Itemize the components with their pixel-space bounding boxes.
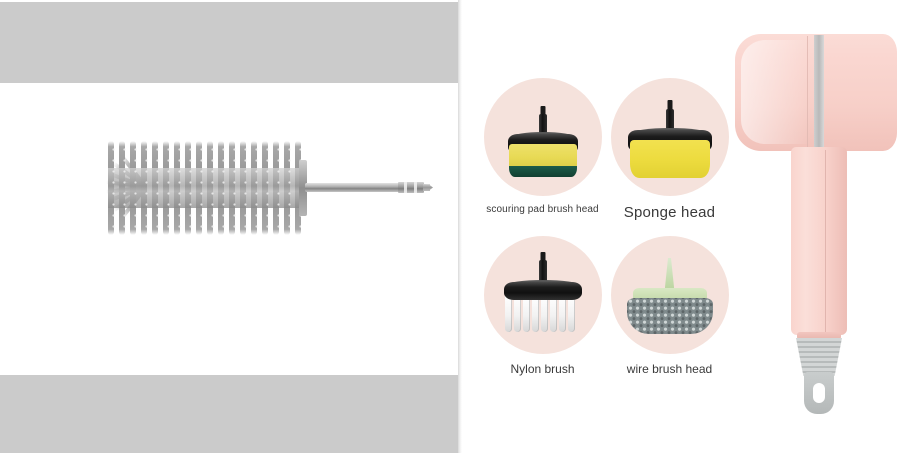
brush-bit-notch — [414, 182, 417, 193]
bottom-gray-band — [0, 375, 459, 453]
attachment-sponge-head: Sponge head — [607, 78, 732, 233]
device-gray-accent-stripe — [814, 35, 824, 150]
attachment-scouring-pad-brush-head: scouring pad brush head — [480, 78, 605, 233]
device-hanging-hole — [813, 383, 825, 403]
bottle-brush-product — [78, 138, 428, 238]
attachment-wire-brush-head: wire brush head — [607, 236, 732, 391]
attachment-label: scouring pad brush head — [480, 204, 605, 215]
handheld-cleaning-brush-device — [735, 14, 913, 424]
top-gray-band — [0, 2, 459, 83]
device-handle-seam — [825, 150, 826, 334]
right-product-panel: scouring pad brush head Sponge head — [462, 0, 919, 453]
brush-bit-nose — [423, 184, 433, 191]
attachment-nylon-brush: Nylon brush — [480, 236, 605, 391]
attachment-label: Sponge head — [607, 204, 732, 221]
device-head-highlight — [741, 40, 811, 144]
sponge-head-icon — [611, 78, 729, 196]
brush-bit-notch — [404, 182, 407, 193]
wire-brush-head-icon — [611, 236, 729, 354]
brush-bristle-speckle — [108, 144, 301, 232]
product-image-canvas: scouring pad brush head Sponge head — [0, 0, 919, 453]
scouring-pad-brush-head-icon — [484, 78, 602, 196]
device-head-seam — [807, 36, 808, 149]
device-handle — [791, 147, 847, 335]
nylon-bristle-field — [505, 296, 581, 332]
brush-hex-drive-bit — [398, 182, 424, 193]
attachment-label: Nylon brush — [480, 362, 605, 376]
device-ribbed-nozzle — [796, 338, 842, 376]
attachment-head-grid: scouring pad brush head Sponge head — [480, 78, 730, 388]
left-product-panel — [0, 0, 459, 453]
attachment-label: wire brush head — [607, 362, 732, 376]
nylon-brush-icon — [484, 236, 602, 354]
